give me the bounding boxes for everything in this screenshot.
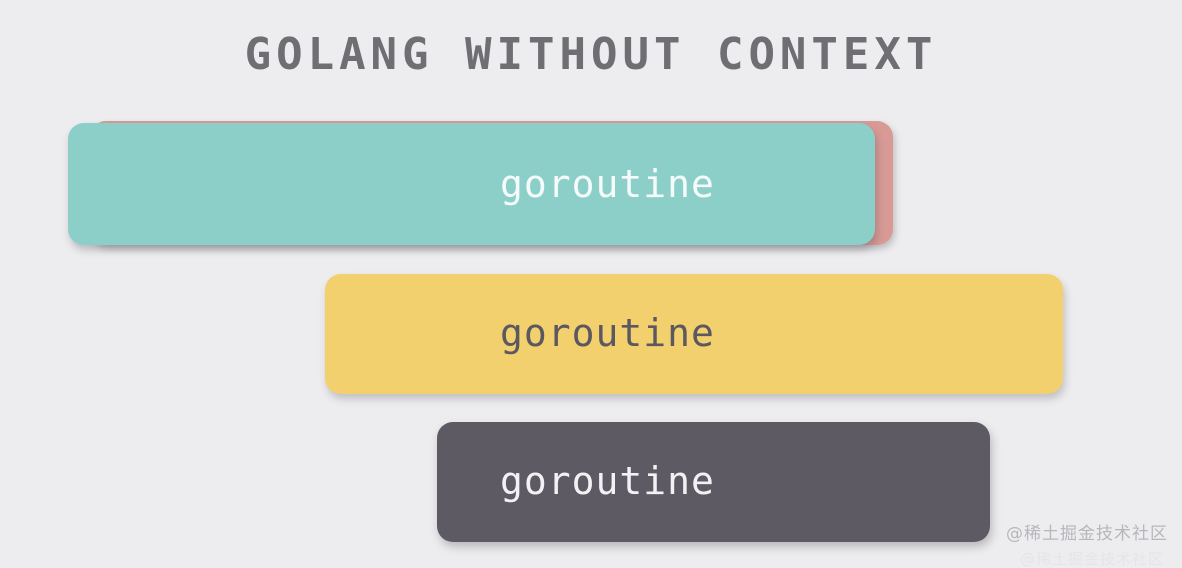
goroutine-bar-dark-label: goroutine [500,462,715,500]
goroutine-bar-dark[interactable]: goroutine [437,422,990,542]
watermark-secondary: @稀土掘金技术社区 [1020,552,1164,567]
goroutine-bar-yellow-label: goroutine [500,314,715,352]
watermark-primary: @稀土掘金技术社区 [1006,526,1168,543]
goroutine-bar-teal-label: goroutine [500,165,715,203]
goroutine-bar-teal[interactable]: goroutine [68,123,875,245]
slide-canvas: GOLANG WITHOUT CONTEXT goroutine gorouti… [0,0,1182,566]
page-title: GOLANG WITHOUT CONTEXT [0,33,1182,77]
goroutine-bar-yellow[interactable]: goroutine [325,274,1063,394]
